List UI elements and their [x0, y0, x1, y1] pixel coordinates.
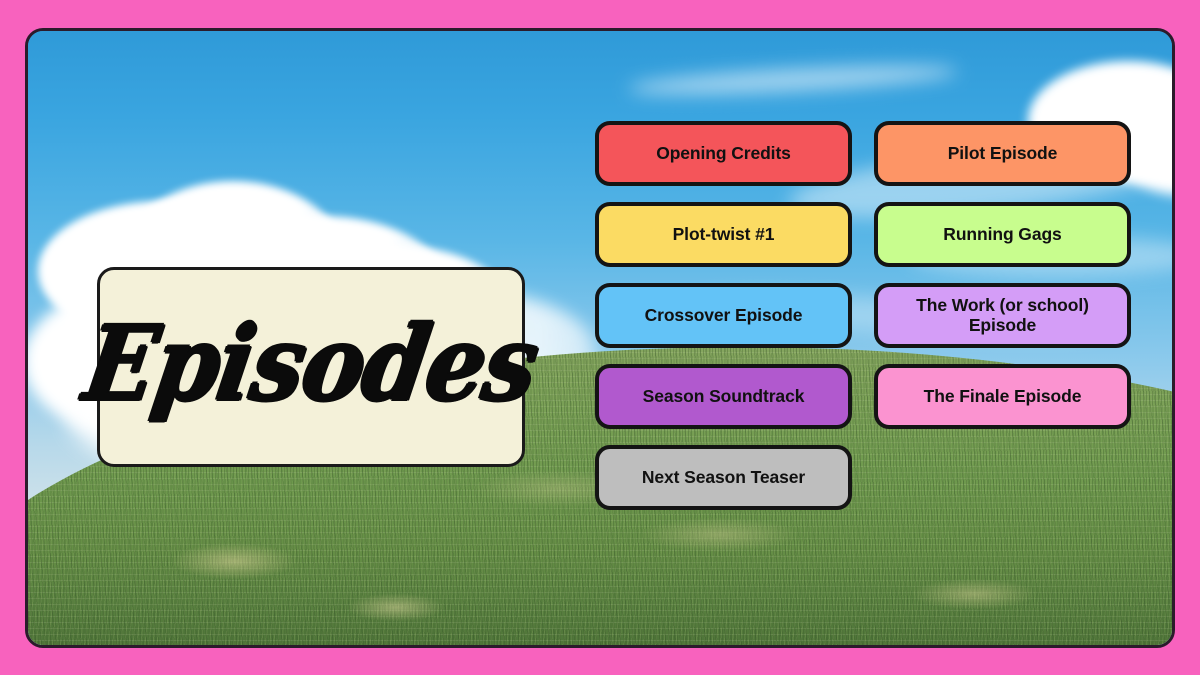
menu-button-plot-twist-1[interactable]: Plot-twist #1 — [595, 202, 852, 267]
menu-grid-spacer — [874, 445, 1131, 510]
menu-button-the-work-or-school-episode[interactable]: The Work (or school) Episode — [874, 283, 1131, 348]
menu-button-crossover-episode[interactable]: Crossover Episode — [595, 283, 852, 348]
menu-button-running-gags[interactable]: Running Gags — [874, 202, 1131, 267]
slide-background-panel: Episodes Opening CreditsPilot EpisodePlo… — [25, 28, 1175, 648]
menu-button-the-finale-episode[interactable]: The Finale Episode — [874, 364, 1131, 429]
page-title: Episodes — [78, 312, 545, 422]
episode-menu-row: Opening CreditsPilot Episode — [595, 121, 1151, 186]
title-card: Episodes — [97, 267, 525, 467]
episode-menu-row: Crossover EpisodeThe Work (or school) Ep… — [595, 283, 1151, 348]
menu-button-opening-credits[interactable]: Opening Credits — [595, 121, 852, 186]
menu-button-next-season-teaser[interactable]: Next Season Teaser — [595, 445, 852, 510]
menu-button-season-soundtrack[interactable]: Season Soundtrack — [595, 364, 852, 429]
episode-menu-grid: Opening CreditsPilot EpisodePlot-twist #… — [595, 121, 1151, 526]
menu-button-pilot-episode[interactable]: Pilot Episode — [874, 121, 1131, 186]
slide-frame: Episodes Opening CreditsPilot EpisodePlo… — [0, 0, 1200, 675]
episode-menu-row: Season SoundtrackThe Finale Episode — [595, 364, 1151, 429]
episode-menu-row: Plot-twist #1Running Gags — [595, 202, 1151, 267]
episode-menu-row: Next Season Teaser — [595, 445, 1151, 510]
